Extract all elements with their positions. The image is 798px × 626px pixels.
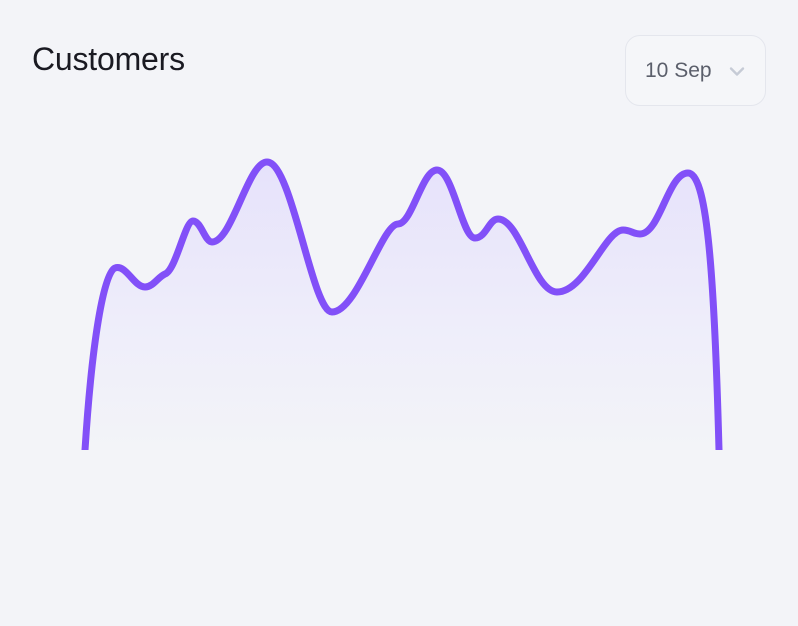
date-range-value: 10 Sep: [645, 59, 712, 83]
customers-area-chart: [0, 140, 798, 626]
date-range-select[interactable]: 10 Sep: [625, 35, 766, 106]
card-header: Customers 10 Sep: [0, 0, 798, 140]
chart-area-fill: [85, 162, 719, 450]
chevron-down-icon: [725, 59, 749, 83]
page-title: Customers: [32, 38, 185, 80]
customers-chart-card: Customers 10 Sep: [0, 0, 798, 626]
chart-area: [0, 140, 798, 626]
